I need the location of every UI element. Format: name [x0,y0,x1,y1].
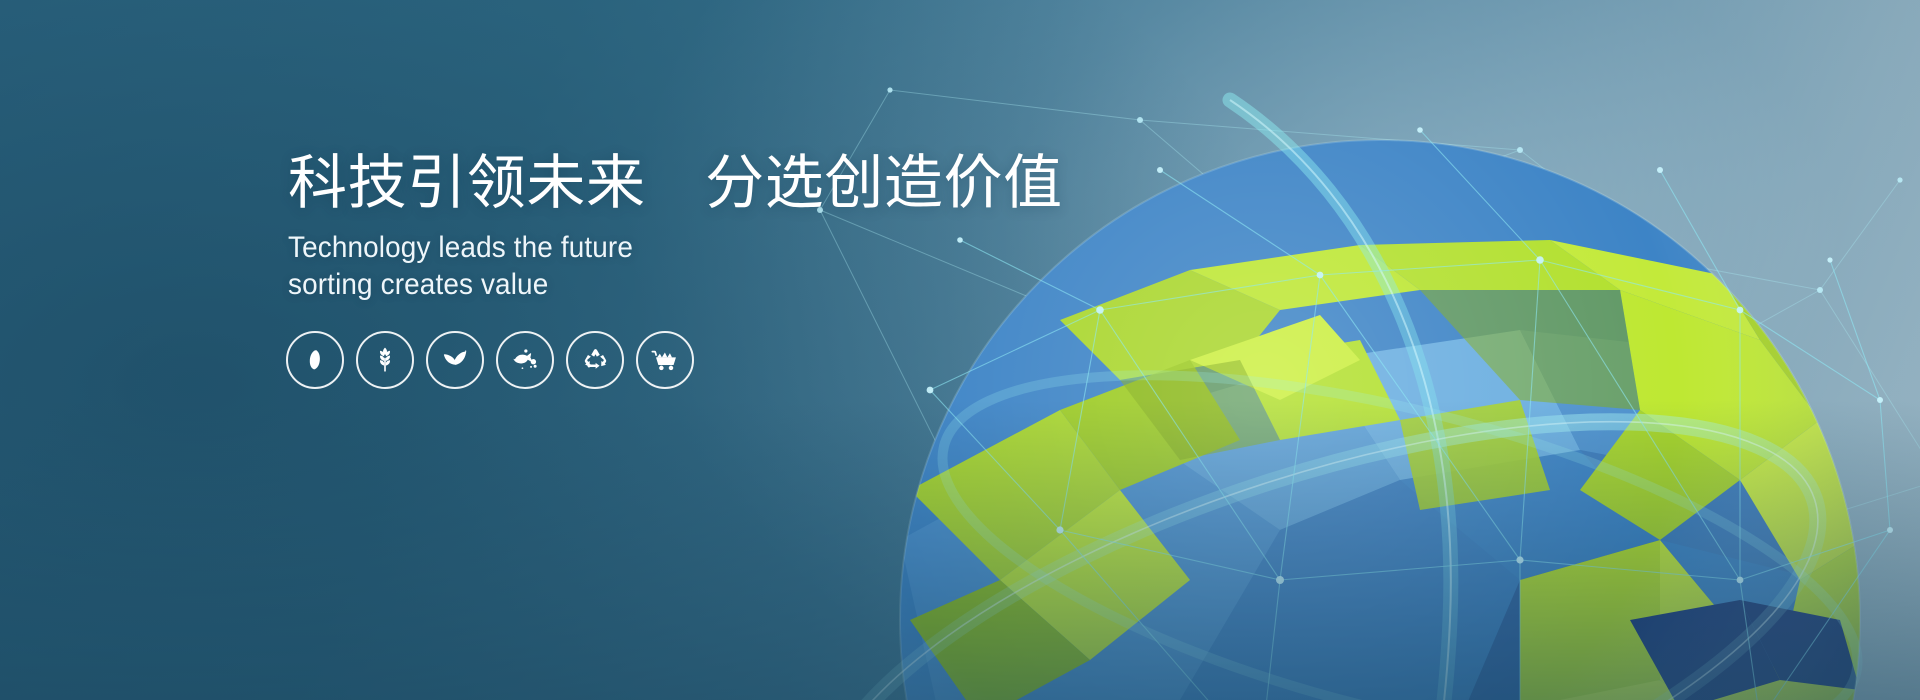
industry-icon-leaf[interactable] [426,331,484,389]
bottom-shade [0,400,1920,700]
industry-icon-fish[interactable] [496,331,554,389]
hero-banner: 科技引领未来 分选创造价值 Technology leads the futur… [0,0,1920,700]
industry-icon-ore-cart[interactable] [636,331,694,389]
industry-icon-recycle[interactable] [566,331,624,389]
page-title: 科技引领未来 分选创造价值 [288,150,1008,216]
subtitle: Technology leads the future sorting crea… [288,230,958,303]
wheat-icon [371,346,399,374]
industry-icon-wheat[interactable] [356,331,414,389]
leaf-icon [440,345,470,375]
seed-icon [302,347,328,373]
subtitle-line-1: Technology leads the future [288,230,958,267]
industry-icon-seed[interactable] [286,331,344,389]
ore-cart-icon [650,345,680,375]
fish-icon [511,346,539,374]
recycle-icon [582,347,609,374]
hero-content: 科技引领未来 分选创造价值 Technology leads the futur… [288,150,1008,303]
subtitle-line-2: sorting creates value [288,267,958,304]
industry-icon-row [286,331,694,389]
